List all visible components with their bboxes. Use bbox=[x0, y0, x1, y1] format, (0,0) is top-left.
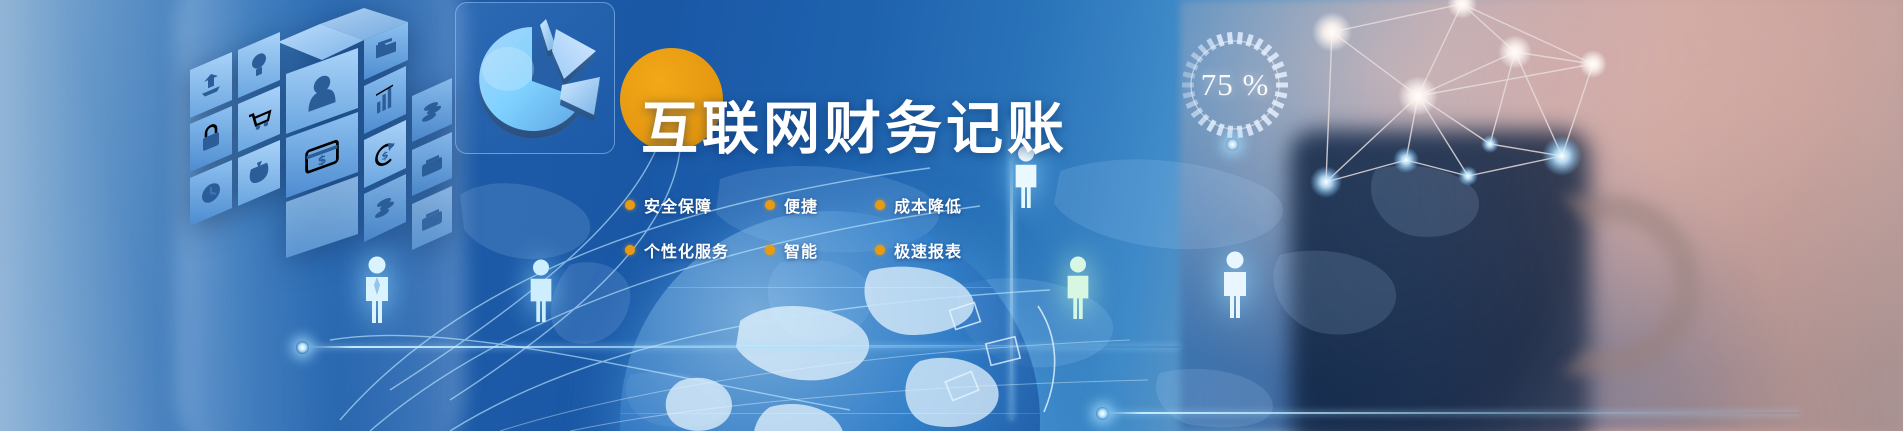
network-node-graph bbox=[1290, 0, 1620, 204]
feature-item: 极速报表 bbox=[875, 238, 962, 262]
bullet-icon bbox=[765, 200, 775, 210]
progress-gauge: 75 % bbox=[1176, 26, 1294, 144]
feature-item: 安全保障 bbox=[625, 193, 765, 217]
bullet-icon bbox=[625, 200, 635, 210]
feature-item: 个性化服务 bbox=[625, 238, 765, 262]
gauge-glow-dot bbox=[1226, 138, 1239, 151]
floating-panels bbox=[940, 300, 1070, 420]
feature-label: 便捷 bbox=[784, 193, 818, 217]
bullet-icon bbox=[875, 245, 885, 255]
feature-label: 成本降低 bbox=[894, 193, 962, 217]
bullet-icon bbox=[625, 245, 635, 255]
feature-item: 成本降低 bbox=[875, 193, 962, 217]
page-title: 互联网财务记账 bbox=[641, 101, 1068, 158]
person-figure bbox=[1062, 255, 1094, 321]
feature-label: 个性化服务 bbox=[644, 238, 729, 262]
glow-rail-dot-right bbox=[1096, 407, 1109, 420]
person-figure bbox=[1218, 250, 1252, 320]
feature-item: 智能 bbox=[765, 238, 875, 262]
bullet-icon bbox=[875, 200, 885, 210]
icon-cube-illustration: $ $ bbox=[168, 8, 458, 258]
glow-rail-right bbox=[1100, 412, 1800, 414]
bullet-icon bbox=[765, 245, 775, 255]
person-figure bbox=[525, 258, 557, 324]
feature-item: 便捷 bbox=[765, 193, 875, 217]
feature-list: 安全保障 便捷 成本降低 个性化服务 智能 极速报表 bbox=[625, 182, 962, 272]
feature-label: 安全保障 bbox=[644, 193, 712, 217]
feature-label: 智能 bbox=[784, 238, 818, 262]
feature-label: 极速报表 bbox=[894, 238, 962, 262]
gauge-value: 75 % bbox=[1176, 26, 1294, 144]
person-figure bbox=[360, 255, 394, 325]
glow-rail-dot-left bbox=[296, 341, 309, 354]
pie-chart-panel bbox=[455, 2, 615, 154]
finance-banner: $ $ bbox=[0, 0, 1903, 431]
pie-chart-illustration bbox=[464, 7, 609, 153]
